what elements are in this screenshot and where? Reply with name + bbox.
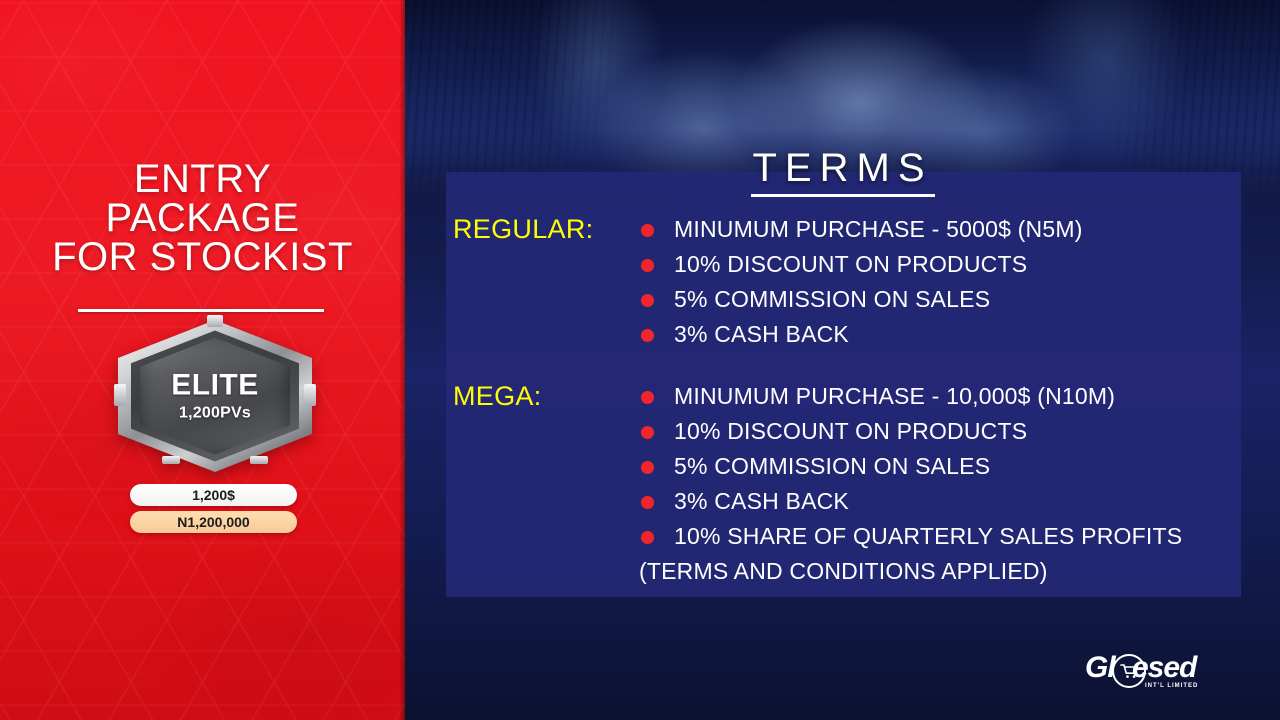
title-divider [78, 309, 324, 312]
page-title-line-2: PACKAGE [0, 199, 405, 238]
list-item-text: 3% CASH BACK [674, 488, 849, 514]
terms-heading: TERMS [405, 146, 1280, 197]
list-item: 5% COMMISSION ON SALES [639, 282, 1083, 317]
entry-package-panel: ENTRY PACKAGE FOR STOCKIST ELITE 1,200PV… [0, 0, 405, 720]
list-item: 10% DISCOUNT ON PRODUCTS [639, 247, 1083, 282]
bullet-dot-icon [641, 391, 654, 404]
list-item-text: MINUMUM PURCHASE - 5000$ (N5M) [674, 216, 1083, 242]
price-usd-pill: 1,200$ [130, 484, 297, 506]
list-item-text: 5% COMMISSION ON SALES [674, 453, 990, 479]
list-item-text: 10% DISCOUNT ON PRODUCTS [674, 418, 1027, 444]
bullet-dot-icon [641, 294, 654, 307]
shopping-cart-icon [1112, 654, 1146, 688]
badge-notch-right-icon [304, 384, 316, 406]
list-item: 10% SHARE OF QUARTERLY SALES PROFITS (TE… [639, 519, 1182, 589]
logo-wordmark-before: Gl [1085, 651, 1115, 684]
badge-notch-left-icon [114, 384, 126, 406]
slide-root: ENTRY PACKAGE FOR STOCKIST ELITE 1,200PV… [0, 0, 1280, 720]
list-item: MINUMUM PURCHASE - 5000$ (N5M) [639, 212, 1083, 247]
list-item: 3% CASH BACK [639, 484, 1182, 519]
badge-notch-bottom-right-icon [250, 456, 268, 464]
terms-section-mega: MEGA: MINUMUM PURCHASE - 10,000$ (N10M) … [453, 379, 1182, 589]
bullet-dot-icon [641, 259, 654, 272]
section-label-mega: MEGA: [453, 379, 639, 413]
badge-tier-label: ELITE [171, 370, 259, 400]
list-item: 10% DISCOUNT ON PRODUCTS [639, 414, 1182, 449]
page-title: ENTRY PACKAGE FOR STOCKIST [0, 160, 405, 277]
badge-pv-label: 1,200PVs [179, 404, 251, 422]
company-logo: Gloesed INT'L LIMITED [1085, 653, 1210, 697]
list-item: 5% COMMISSION ON SALES [639, 449, 1182, 484]
list-item-continuation: (TERMS AND CONDITIONS APPLIED) [639, 554, 1182, 589]
list-item: 3% CASH BACK [639, 317, 1083, 352]
bullet-dot-icon [641, 426, 654, 439]
terms-list-mega: MINUMUM PURCHASE - 10,000$ (N10M) 10% DI… [639, 379, 1182, 589]
bullet-dot-icon [641, 461, 654, 474]
list-item-text: 5% COMMISSION ON SALES [674, 286, 990, 312]
badge-notch-bottom-left-icon [162, 456, 180, 464]
list-item-text: MINUMUM PURCHASE - 10,000$ (N10M) [674, 383, 1115, 409]
page-title-line-1: ENTRY [0, 160, 405, 199]
bullet-dot-icon [641, 224, 654, 237]
terms-section-regular: REGULAR: MINUMUM PURCHASE - 5000$ (N5M) … [453, 212, 1083, 352]
list-item: MINUMUM PURCHASE - 10,000$ (N10M) [639, 379, 1182, 414]
terms-heading-text: TERMS [751, 146, 935, 197]
bullet-dot-icon [641, 496, 654, 509]
list-item-text: 10% SHARE OF QUARTERLY SALES PROFITS [674, 523, 1182, 549]
bullet-dot-icon [641, 531, 654, 544]
section-label-regular: REGULAR: [453, 212, 639, 246]
terms-panel: REGULAR: MINUMUM PURCHASE - 5000$ (N5M) … [405, 0, 1280, 720]
badge-notch-top-icon [207, 315, 223, 327]
list-item-text: 10% DISCOUNT ON PRODUCTS [674, 251, 1027, 277]
list-item-text: 3% CASH BACK [674, 321, 849, 347]
bullet-dot-icon [641, 329, 654, 342]
terms-list-regular: MINUMUM PURCHASE - 5000$ (N5M) 10% DISCO… [639, 212, 1083, 352]
elite-badge: ELITE 1,200PVs [118, 320, 312, 472]
page-title-line-3: FOR STOCKIST [0, 238, 405, 277]
terms-content-box: REGULAR: MINUMUM PURCHASE - 5000$ (N5M) … [446, 172, 1241, 597]
logo-tagline: INT'L LIMITED [1145, 683, 1198, 689]
price-ngn-pill: N1,200,000 [130, 511, 297, 533]
